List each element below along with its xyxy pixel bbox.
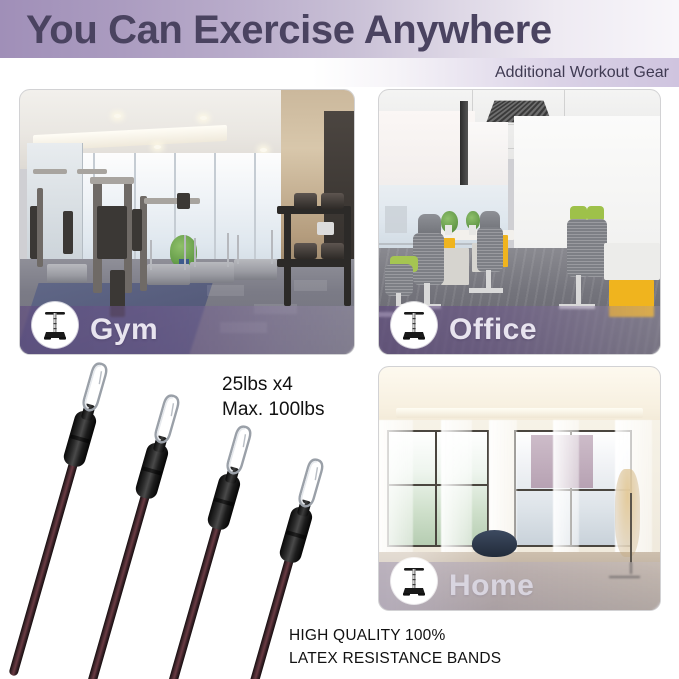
home-curtain xyxy=(553,420,578,556)
band-carabiner-clip xyxy=(150,391,184,446)
home-decorative-vine xyxy=(615,469,640,556)
page-title: You Can Exercise Anywhere xyxy=(26,7,552,53)
home-badge xyxy=(391,558,437,604)
gym-label: Gym xyxy=(90,310,158,350)
weight-line-1: 25lbs x4 xyxy=(222,372,324,397)
gym-weight-pad xyxy=(97,206,127,259)
band-sleeve xyxy=(134,441,171,501)
quality-line-2: LATEX RESISTANCE BANDS xyxy=(289,647,501,670)
band-carabiner-clip xyxy=(294,455,328,510)
photo-card-home: Home xyxy=(378,366,661,611)
band-carabiner-clip xyxy=(78,359,112,414)
home-curtain xyxy=(379,420,413,556)
office-chair xyxy=(477,227,502,272)
band-sleeve xyxy=(62,409,99,469)
gym-dumbbell xyxy=(294,243,317,259)
photo-card-gym: Gym xyxy=(19,89,355,355)
home-curtain xyxy=(441,420,472,556)
office-label: Office xyxy=(449,310,537,350)
resistance-bar-icon xyxy=(399,565,429,597)
band-sleeve xyxy=(206,472,243,532)
gym-badge xyxy=(32,302,78,348)
gym-dumbbell xyxy=(294,193,317,209)
photo-card-office: Office xyxy=(378,89,661,355)
product-infographic: You Can Exercise Anywhere Additional Wor… xyxy=(0,0,679,679)
resistance-bar-icon xyxy=(40,309,70,341)
home-cove-light xyxy=(396,408,643,418)
gym-dumbbell xyxy=(321,193,344,209)
subtitle-text: Additional Workout Gear xyxy=(495,63,669,83)
band-carabiner-clip xyxy=(222,422,256,477)
band-sleeve xyxy=(278,505,315,565)
office-window-blind xyxy=(463,122,508,191)
weight-note: 25lbs x4 Max. 100lbs xyxy=(222,372,324,422)
home-beanbag xyxy=(472,530,517,557)
quality-note: HIGH QUALITY 100% LATEX RESISTANCE BANDS xyxy=(289,624,501,670)
band-cord xyxy=(80,475,155,679)
weight-line-2: Max. 100lbs xyxy=(222,397,324,422)
office-badge xyxy=(391,302,437,348)
home-label: Home xyxy=(449,566,534,606)
gym-downlight xyxy=(114,114,121,118)
office-cabinet xyxy=(441,248,469,285)
resistance-bar-icon xyxy=(399,309,429,341)
quality-line-1: HIGH QUALITY 100% xyxy=(289,624,501,647)
band-cord xyxy=(152,506,227,679)
gym-dumbbell xyxy=(321,243,344,259)
band-cord xyxy=(8,443,83,676)
gym-treadmill xyxy=(47,264,87,282)
